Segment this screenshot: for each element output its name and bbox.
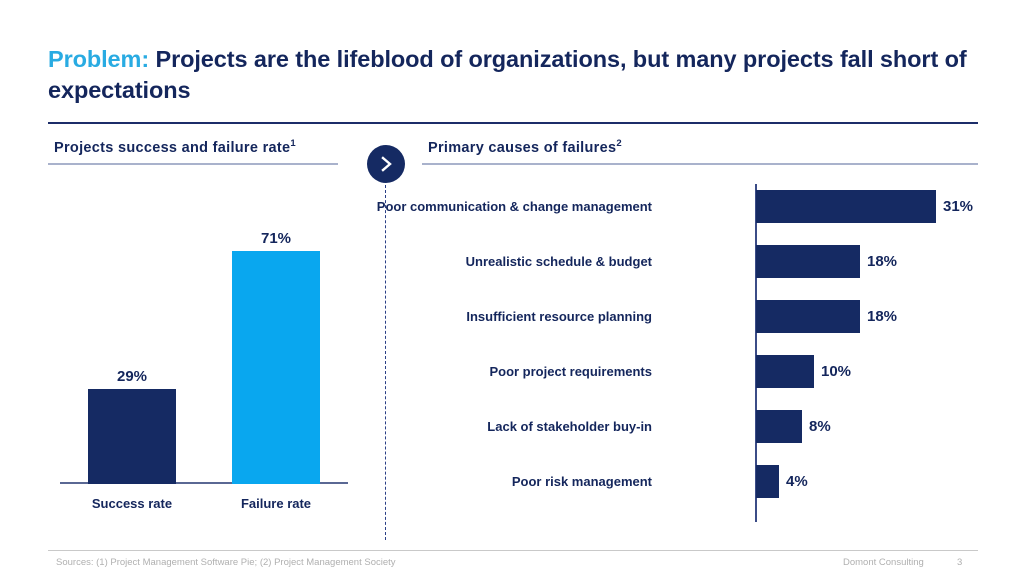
horizontal-bar-rect[interactable] [756,465,779,498]
panel-projects-success-failure: Projects success and failure rate1 29%Su… [48,140,358,525]
panel-divider [385,185,386,540]
vertical-bar-category-label: Failure rate [216,496,336,511]
horizontal-bar-category-label: Insufficient resource planning [466,300,652,333]
vertical-bar-column: 29%Success rate [88,389,176,484]
horizontal-bar-category-label: Poor project requirements [489,355,652,388]
horizontal-bar-rect[interactable] [756,355,814,388]
horizontal-bar-value-label: 18% [867,300,897,333]
vertical-bar-column: 71%Failure rate [232,251,320,484]
footer-page-number: 3 [957,557,962,568]
page-title-accent: Problem: [48,46,149,72]
horizontal-bar-row: Poor project requirements10% [422,355,978,388]
panel-right-heading: Primary causes of failures2 [422,140,978,163]
vertical-bar-value-label: 71% [232,230,320,247]
horizontal-bar-row: Lack of stakeholder buy-in8% [422,410,978,443]
footer-divider [48,550,978,551]
horizontal-bar-value-label: 10% [821,355,851,388]
horizontal-bar-row: Unrealistic schedule & budget18% [422,245,978,278]
horizontal-bar-rect[interactable] [756,410,802,443]
panel-left-footnote-marker: 1 [290,138,296,149]
chevron-right-icon[interactable] [367,145,405,183]
horizontal-bar-category-label: Unrealistic schedule & budget [466,245,652,278]
panel-right-heading-text: Primary causes of failures [428,140,616,156]
panel-right-footnote-marker: 2 [616,138,622,149]
horizontal-bar-row: Insufficient resource planning18% [422,300,978,333]
horizontal-bar-chart: Poor communication & change management31… [422,180,978,525]
panel-left-heading-text: Projects success and failure rate [54,140,290,156]
horizontal-bar-rect[interactable] [756,300,860,333]
horizontal-bar-category-label: Poor risk management [512,465,652,498]
horizontal-bar-row: Poor communication & change management31… [422,190,978,223]
title-block: Problem: Projects are the lifeblood of o… [48,44,978,106]
vertical-bar-value-label: 29% [88,368,176,385]
horizontal-bar-rect[interactable] [756,190,936,223]
panel-primary-causes: Primary causes of failures2 Poor communi… [422,140,978,525]
panel-left-heading: Projects success and failure rate1 [48,140,358,163]
panel-left-underline [48,163,338,165]
horizontal-bar-value-label: 4% [786,465,808,498]
horizontal-bar-category-label: Poor communication & change management [377,190,652,223]
page-title-rest: Projects are the lifeblood of organizati… [48,46,967,103]
vertical-bar-rect[interactable] [88,389,176,484]
horizontal-bar-value-label: 31% [943,190,973,223]
page-title: Problem: Projects are the lifeblood of o… [48,44,978,106]
vertical-bar-rect[interactable] [232,251,320,484]
vertical-bar-chart: 29%Success rate71%Failure rate [48,182,358,527]
footer-brand: Domont Consulting [843,557,924,568]
horizontal-bar-category-label: Lack of stakeholder buy-in [487,410,652,443]
horizontal-bar-value-label: 8% [809,410,831,443]
panel-right-underline [422,163,978,165]
horizontal-bar-value-label: 18% [867,245,897,278]
title-divider [48,122,978,124]
footer-sources: Sources: (1) Project Management Software… [56,557,396,568]
horizontal-bar-row: Poor risk management4% [422,465,978,498]
horizontal-bar-rect[interactable] [756,245,860,278]
vertical-bar-category-label: Success rate [72,496,192,511]
vertical-bar-plot-area: 29%Success rate71%Failure rate [60,182,348,524]
